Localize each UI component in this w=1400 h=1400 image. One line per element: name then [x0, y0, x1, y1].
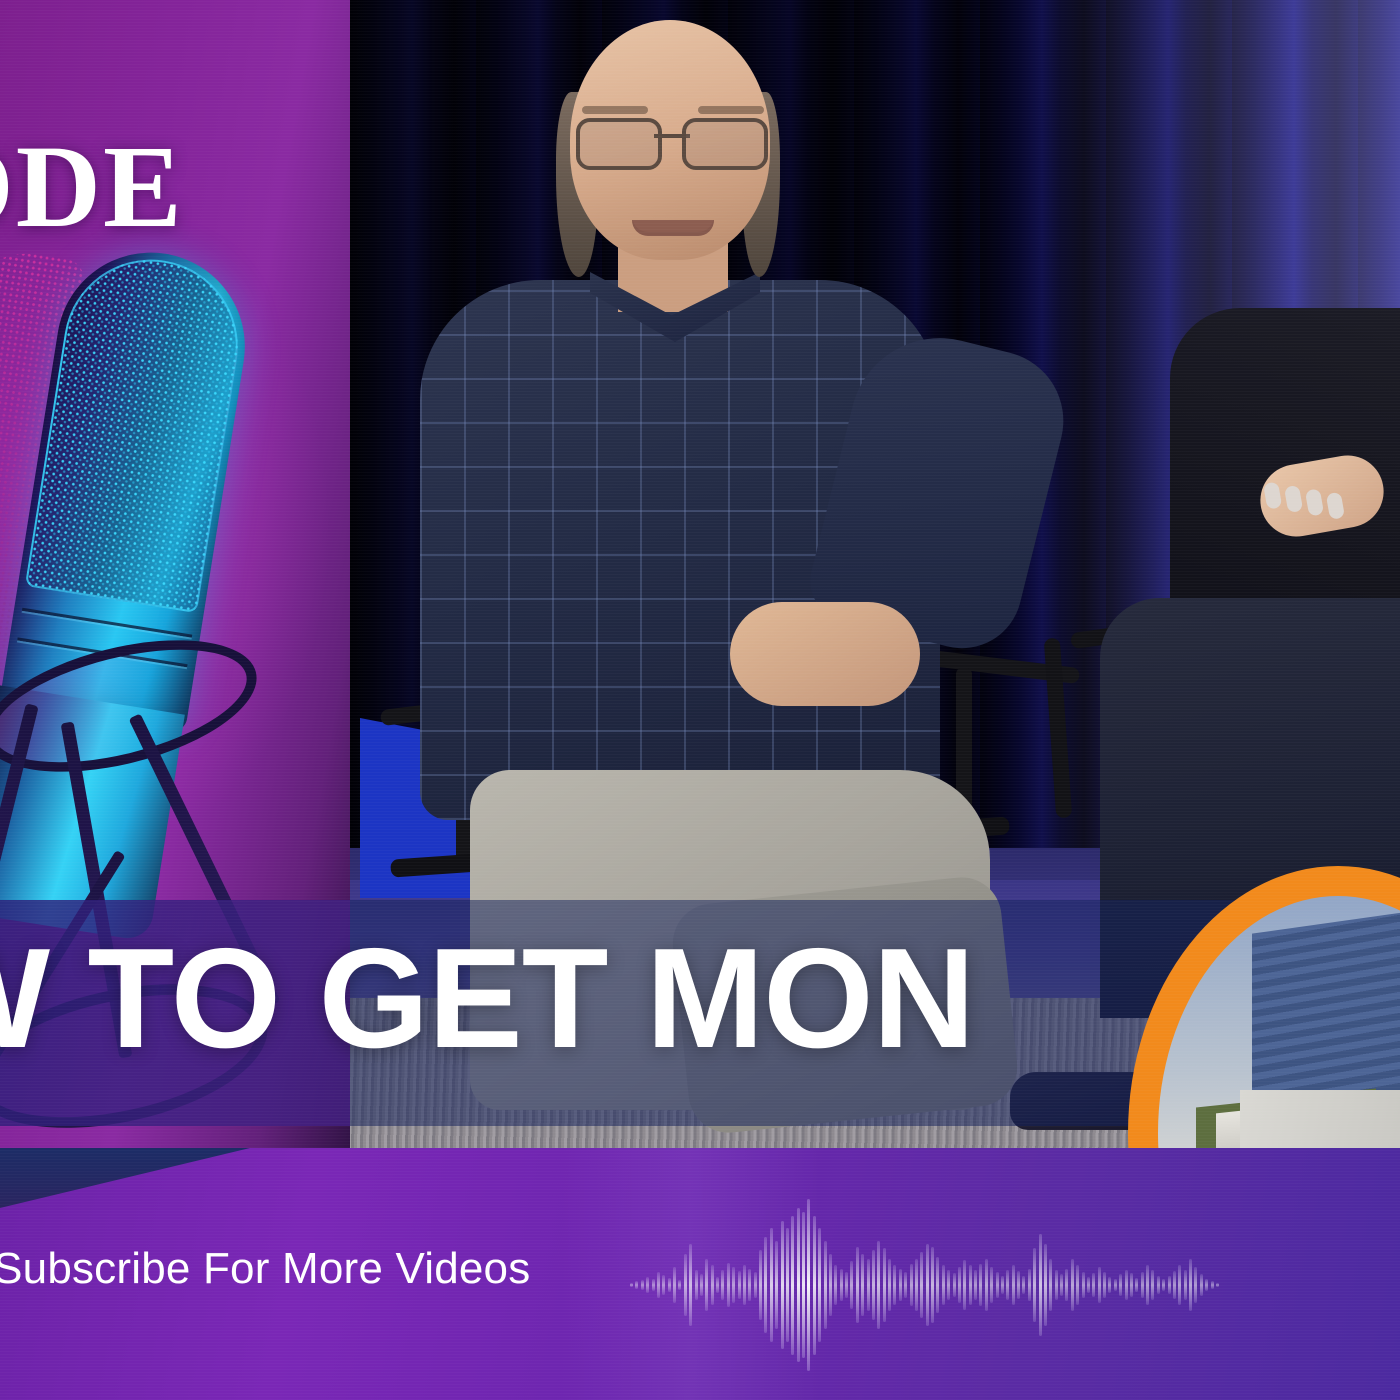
waveform-bar	[840, 1269, 843, 1302]
waveform-bar	[1211, 1281, 1214, 1288]
waveform-bar	[856, 1247, 859, 1322]
waveform-bar	[732, 1267, 735, 1302]
waveform-bar	[791, 1216, 794, 1355]
waveform-bar	[695, 1270, 698, 1301]
waveform-bar	[1125, 1270, 1128, 1301]
waveform-bar	[942, 1265, 945, 1305]
waveform-bar	[958, 1267, 961, 1302]
waveform-bar	[974, 1270, 977, 1301]
waveform-bar	[1065, 1269, 1068, 1302]
fingernail	[1326, 492, 1345, 520]
brand-word: ODE	[0, 128, 184, 246]
waveform-bar	[786, 1228, 789, 1341]
waveform-bar	[1098, 1267, 1101, 1302]
waveform-bar	[662, 1275, 665, 1295]
waveform-bar	[689, 1244, 692, 1326]
fingernail	[1284, 485, 1303, 513]
waveform-bar	[1060, 1274, 1063, 1295]
waveform-bar	[813, 1216, 816, 1355]
waveform-bar	[1092, 1273, 1095, 1297]
waveform-bar	[678, 1280, 681, 1291]
fingernail	[1305, 488, 1324, 516]
waveform-bar	[824, 1241, 827, 1328]
waveform-bar	[990, 1267, 993, 1302]
waveform-bar	[872, 1250, 875, 1321]
waveform-bar	[1103, 1272, 1106, 1298]
waveform-bar	[646, 1277, 649, 1293]
waveform-bar	[700, 1274, 703, 1295]
waveform-bar	[1168, 1276, 1171, 1295]
waveform-bar	[1044, 1244, 1047, 1326]
waveform-bar	[1157, 1276, 1160, 1295]
waveform-bar	[641, 1280, 644, 1291]
waveform-bar	[936, 1257, 939, 1314]
waveform-bar	[743, 1265, 746, 1305]
waveform-bar	[1087, 1277, 1090, 1293]
eyeglasses-icon	[576, 118, 768, 164]
waveform-bar	[926, 1244, 929, 1326]
waveform-bar	[1200, 1274, 1203, 1295]
waveform-bar	[834, 1265, 837, 1305]
waveform-bar	[969, 1265, 972, 1305]
waveform-bar	[979, 1264, 982, 1306]
waveform-bar	[1141, 1272, 1144, 1298]
waveform-bar	[716, 1277, 719, 1293]
waveform-bar	[867, 1259, 870, 1311]
eyebrow-right	[698, 106, 764, 114]
waveform-bar	[759, 1250, 762, 1321]
waveform-bar	[1189, 1259, 1192, 1311]
waveform-bar	[910, 1264, 913, 1306]
waveform-bar	[904, 1272, 907, 1298]
waveform-bar	[899, 1269, 902, 1302]
waveform-bar	[1135, 1278, 1138, 1292]
waveform-bar	[1108, 1277, 1111, 1293]
waveform-bar	[1022, 1276, 1025, 1295]
waveform-bar	[1017, 1271, 1020, 1299]
video-thumbnail: ODE W TO GET MON d Subscribe For More Vi…	[0, 0, 1400, 1400]
waveform-bar	[1216, 1283, 1219, 1288]
waveform-bar	[652, 1279, 655, 1291]
waveform-bar	[861, 1254, 864, 1315]
waveform-bar	[947, 1270, 950, 1301]
waveform-bar	[845, 1272, 848, 1298]
waveform-bar	[684, 1254, 687, 1315]
waveform-bar	[1033, 1248, 1036, 1321]
waveform-bar	[1012, 1265, 1015, 1305]
waveform-bar	[1071, 1259, 1074, 1311]
waveform-bar	[1082, 1272, 1085, 1298]
waveform-bar	[802, 1212, 805, 1358]
lens-left	[576, 118, 662, 170]
waveform-bar	[668, 1278, 671, 1292]
waveform-bar	[711, 1265, 714, 1305]
waveform-bar	[727, 1263, 730, 1308]
waveform-bar	[877, 1241, 880, 1328]
page-title: W TO GET MON	[0, 928, 974, 1070]
microphone-icon	[0, 230, 370, 990]
waveform-bar	[1039, 1234, 1042, 1335]
mouth	[632, 220, 714, 236]
waveform-bar	[818, 1228, 821, 1341]
waveform-bar	[775, 1241, 778, 1328]
waveform-bar	[721, 1270, 724, 1301]
waveform-bar	[920, 1252, 923, 1318]
waveform-bar	[963, 1260, 966, 1309]
waveform-bar	[883, 1248, 886, 1321]
waveform-bar	[764, 1237, 767, 1334]
waveform-bar	[953, 1273, 956, 1297]
waveform-bar	[657, 1272, 660, 1298]
waveform-bar	[1162, 1279, 1165, 1291]
waveform-bar	[705, 1259, 708, 1311]
waveform-bar	[985, 1259, 988, 1311]
waveform-bar	[630, 1283, 633, 1288]
waveform-bar	[1028, 1269, 1031, 1302]
audio-waveform	[630, 1196, 1220, 1374]
waveform-bar	[673, 1267, 676, 1302]
waveform-bar	[1055, 1270, 1058, 1301]
waveform-bar	[1001, 1276, 1004, 1295]
waveform-bar	[829, 1254, 832, 1315]
waveform-bar	[807, 1199, 810, 1371]
waveform-bar	[1146, 1265, 1149, 1305]
waveform-bar	[754, 1272, 757, 1298]
waveform-bar	[1151, 1270, 1154, 1301]
waveform-bar	[1205, 1279, 1208, 1291]
waveform-bar	[1178, 1265, 1181, 1305]
waveform-bar	[1194, 1267, 1197, 1302]
waveform-bar	[915, 1259, 918, 1311]
waveform-bar	[770, 1228, 773, 1341]
waveform-bar	[635, 1281, 638, 1288]
waveform-bar	[748, 1269, 751, 1302]
waveform-bar	[888, 1259, 891, 1311]
eyebrow-left	[582, 106, 648, 114]
waveform-bar	[1049, 1259, 1052, 1311]
waveform-bar	[738, 1271, 741, 1299]
footer-corner-cut	[0, 1148, 250, 1208]
waveform-bar	[893, 1265, 896, 1305]
waveform-bar	[797, 1208, 800, 1361]
waveform-bar	[1184, 1270, 1187, 1301]
subscribe-callout: d Subscribe For More Videos	[0, 1244, 530, 1294]
waveform-bar	[1130, 1273, 1133, 1297]
waveform-bar	[1076, 1265, 1079, 1305]
mic-ring	[22, 608, 192, 638]
fingernail	[1263, 481, 1282, 509]
waveform-bar	[996, 1272, 999, 1298]
waveform-bar	[1119, 1274, 1122, 1295]
waveform-bar	[931, 1247, 934, 1322]
waveform-bar	[781, 1221, 784, 1348]
clasped-hands	[730, 602, 920, 706]
lens-right	[682, 118, 768, 170]
waveform-bar	[1114, 1279, 1117, 1291]
waveform-bar	[1006, 1270, 1009, 1301]
waveform-bar	[1173, 1271, 1176, 1299]
waveform-bar	[850, 1261, 853, 1308]
